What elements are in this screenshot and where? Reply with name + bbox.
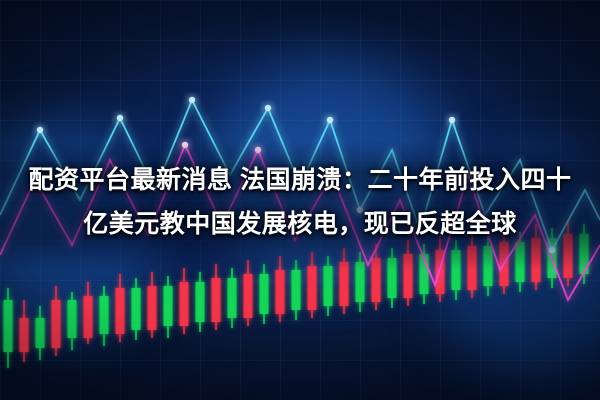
image-canvas: 配资平台最新消息 法国崩溃：二十年前投入四十 亿美元教中国发展核电，现已反超全球 [0,0,600,400]
headline-text: 配资平台最新消息 法国崩溃：二十年前投入四十 亿美元教中国发展核电，现已反超全球 [0,158,600,246]
headline-line-2: 亿美元教中国发展核电，现已反超全球 [14,202,586,246]
headline-line-1: 配资平台最新消息 法国崩溃：二十年前投入四十 [14,158,586,202]
